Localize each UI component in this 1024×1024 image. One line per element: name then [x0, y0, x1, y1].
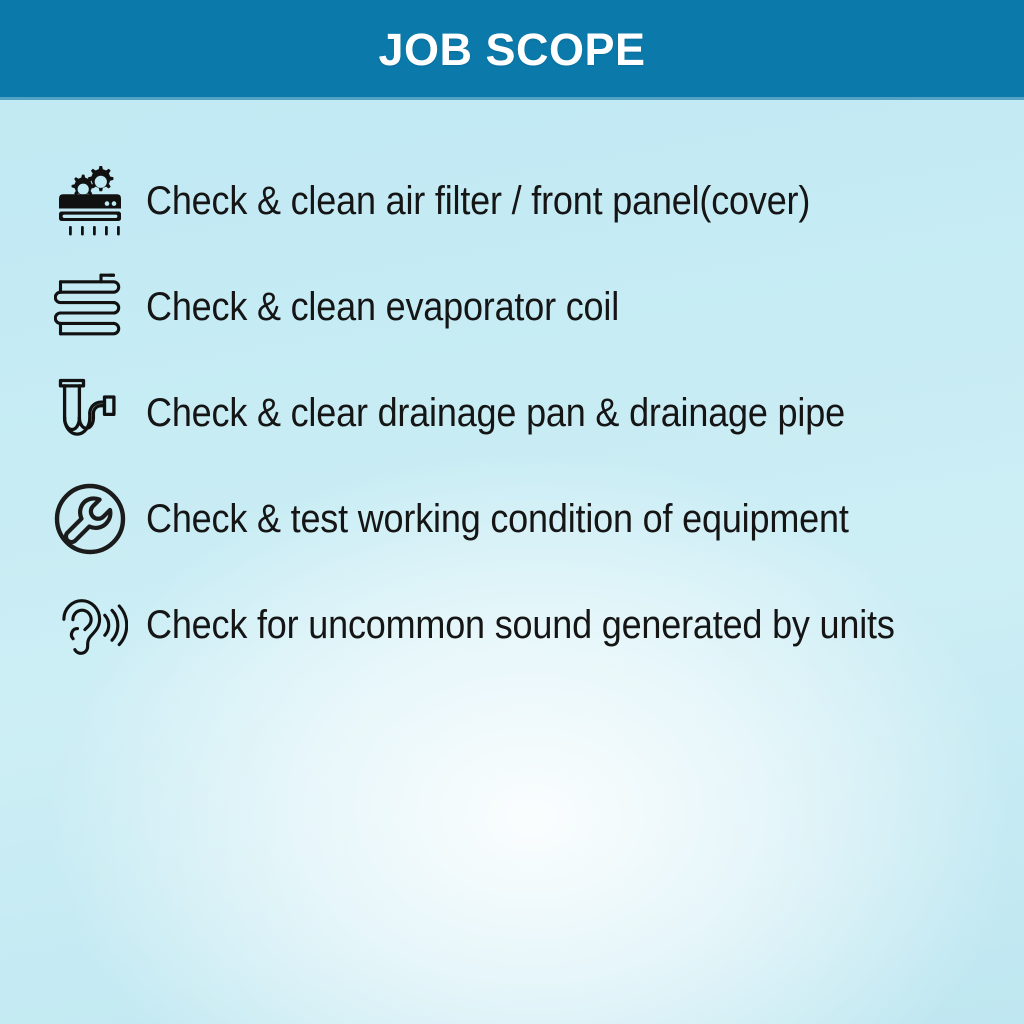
page-title: JOB SCOPE — [378, 24, 645, 76]
list-item: Check & clean air filter / front panel(c… — [0, 148, 1024, 254]
list-item-label: Check & test working condition of equipm… — [146, 498, 849, 540]
header-bar: JOB SCOPE — [0, 0, 1024, 100]
list-item-label: Check & clean evaporator coil — [146, 286, 619, 328]
list-item: Check & test working condition of equipm… — [0, 466, 1024, 572]
drain-p-trap-pipe-icon — [52, 373, 128, 453]
job-scope-card: JOB SCOPE — [0, 0, 1024, 1024]
evaporator-coil-icon — [52, 267, 128, 347]
wrench-in-circle-icon — [52, 479, 128, 559]
list-item: Check for uncommon sound generated by un… — [0, 572, 1024, 678]
list-item: Check & clear drainage pan & drainage pi… — [0, 360, 1024, 466]
list-item: Check & clean evaporator coil — [0, 254, 1024, 360]
list-item-label: Check for uncommon sound generated by un… — [146, 604, 895, 646]
list-item-label: Check & clean air filter / front panel(c… — [146, 180, 810, 222]
ac-unit-gears-icon — [52, 161, 128, 241]
job-scope-list: Check & clean air filter / front panel(c… — [0, 148, 1024, 678]
list-item-label: Check & clear drainage pan & drainage pi… — [146, 392, 845, 434]
ear-sound-waves-icon — [52, 585, 128, 665]
